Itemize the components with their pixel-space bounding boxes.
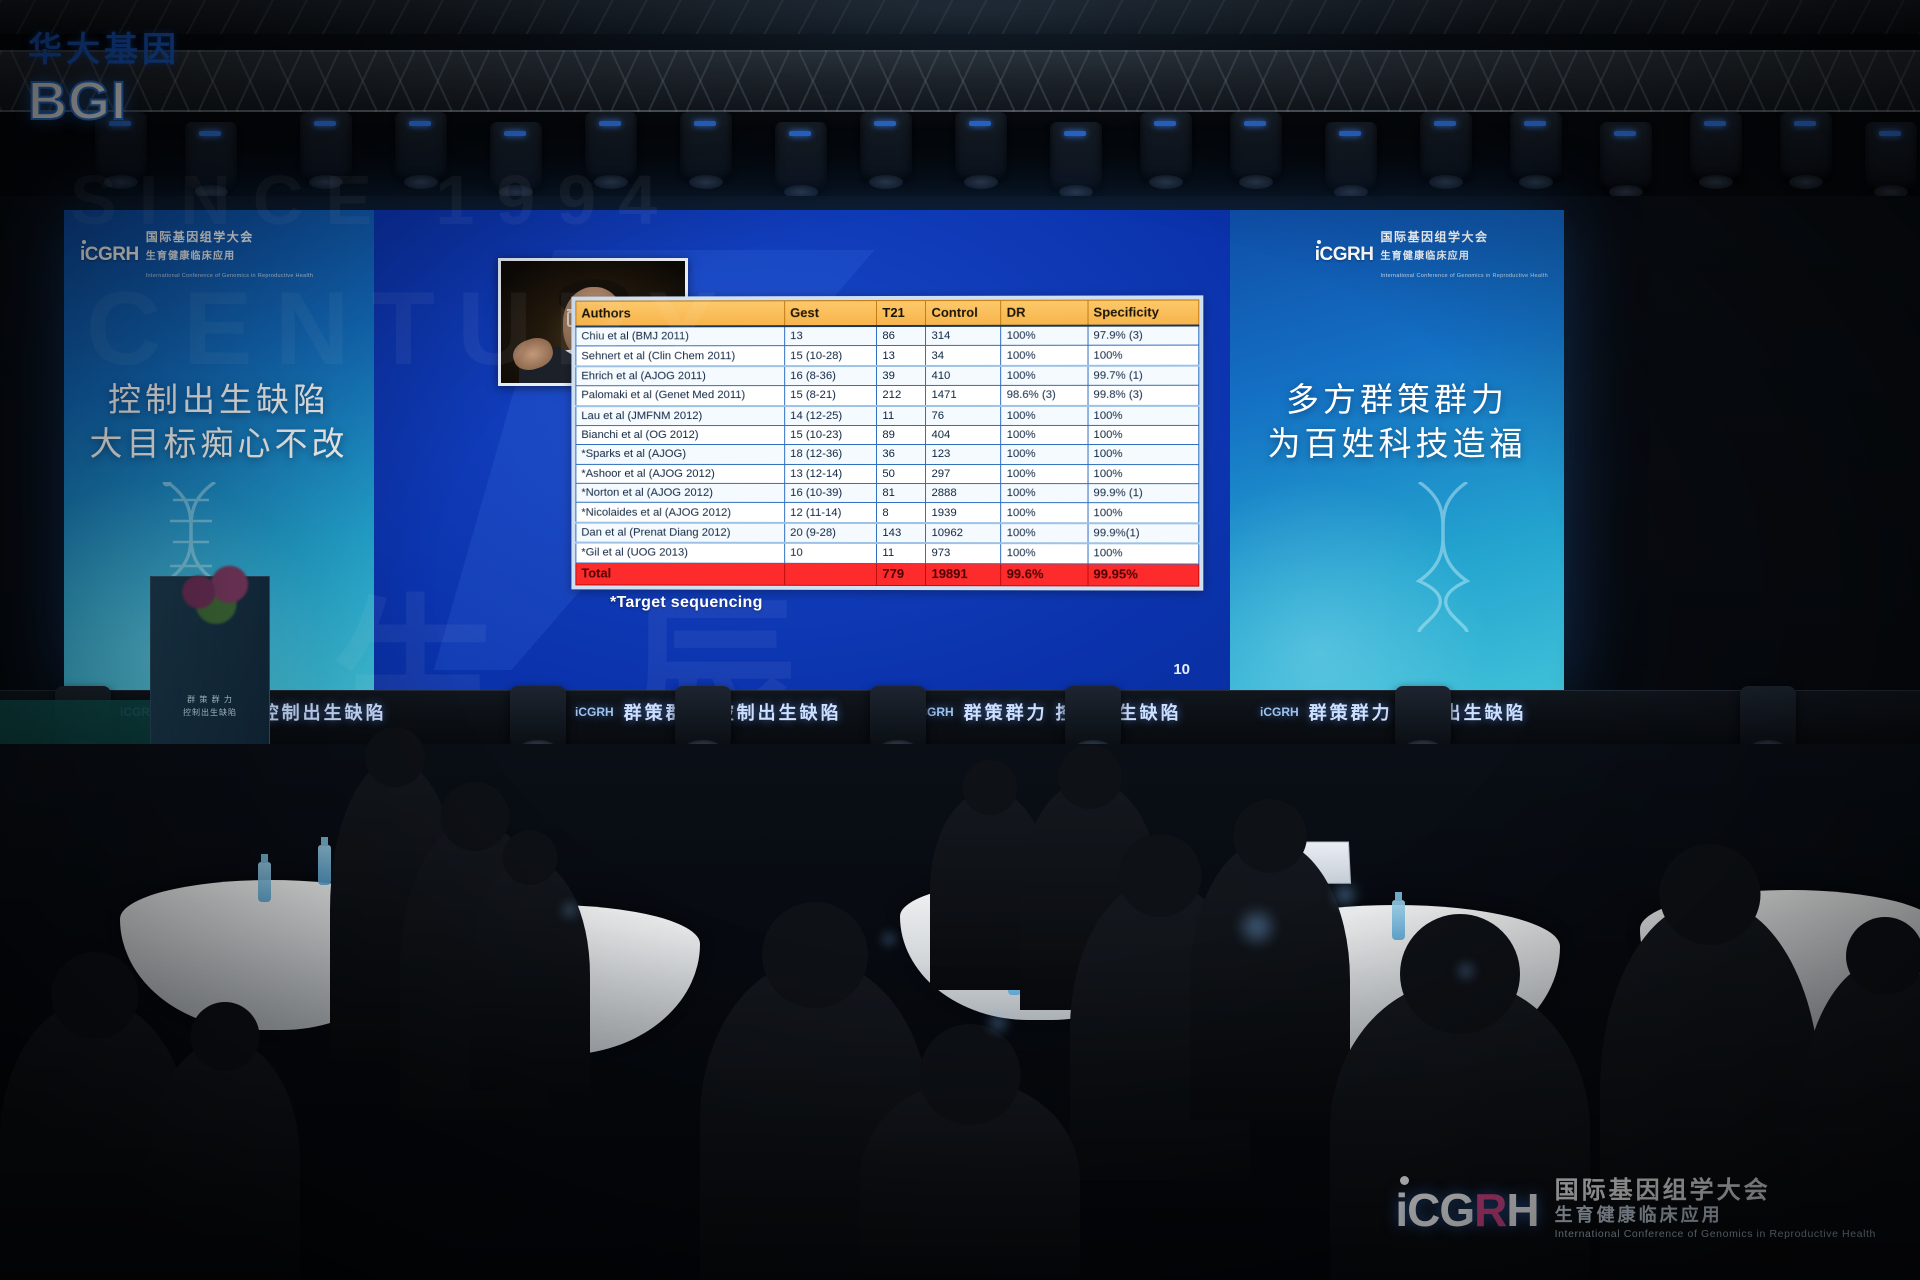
stage-lamp	[1050, 122, 1102, 192]
cell-t21: 36	[877, 445, 926, 464]
stage-lamp	[1325, 122, 1377, 192]
cell-gest: 15 (10-28)	[785, 346, 877, 366]
stage-lamp	[680, 112, 732, 182]
cell-specificity: 99.9%(1)	[1088, 523, 1199, 544]
audience-head	[503, 830, 558, 885]
table-row: Chiu et al (BMJ 2011)1386314100%97.9% (3…	[576, 325, 1199, 346]
logo-cn-line1: 国际基因组学大会	[146, 230, 254, 244]
podium-text-line2: 控制出生缺陷	[183, 708, 237, 717]
slide-footnote: *Target sequencing	[610, 594, 763, 612]
cell-gest: 13 (12-14)	[785, 464, 877, 483]
logo-en-line: International Conference of Genomics in …	[146, 273, 314, 279]
cell-specificity: 100%	[1088, 405, 1199, 425]
table-row: Lau et al (JMFNM 2012)14 (12-25)1176100%…	[576, 405, 1199, 425]
audience-member	[1190, 840, 1350, 1120]
led-video-wall: iCGRH 国际基因组学大会 生育健康临床应用 International Co…	[64, 210, 1564, 692]
table-row: *Ashoor et al (AJOG 2012)13 (12-14)50297…	[576, 464, 1199, 484]
cell-gest: 16 (10-39)	[785, 483, 877, 502]
table-row: *Nicolaides et al (AJOG 2012)12 (11-14)8…	[576, 503, 1199, 523]
cell-specificity: 100%	[1088, 345, 1199, 365]
cell-authors: *Norton et al (AJOG 2012)	[576, 483, 785, 502]
total-cell-dr: 99.6%	[1001, 563, 1088, 585]
cell-control: 34	[926, 346, 1001, 366]
icgrh-corner-text: 国际基因组学大会 生育健康临床应用 International Conferen…	[1555, 1177, 1876, 1242]
cell-control: 297	[926, 464, 1001, 483]
water-bottle	[318, 845, 331, 885]
cell-gest: 15 (10-23)	[785, 425, 877, 444]
moving-head-light	[675, 686, 731, 748]
led-right-panel: iCGRH 国际基因组学大会 生育健康临床应用 International Co…	[1230, 210, 1564, 692]
total-cell-control: 19891	[926, 563, 1001, 585]
bokeh-light	[880, 930, 898, 948]
cell-control: 314	[926, 326, 1001, 346]
cell-specificity: 97.9% (3)	[1088, 325, 1199, 345]
audience-head	[1233, 799, 1307, 873]
moving-head-light	[1395, 686, 1451, 748]
cell-authors: *Gil et al (UOG 2013)	[576, 543, 785, 563]
audience-head	[963, 760, 1018, 815]
right-title-line1: 多方群策群力	[1286, 381, 1508, 418]
cell-t21: 143	[877, 523, 926, 543]
moving-head-light	[1065, 686, 1121, 748]
conference-hall-photo: iCGRH 国际基因组学大会 生育健康临床应用 International Co…	[0, 0, 1920, 1280]
stage-front-led-strip: iCGRH群策群力 控制出生缺陷iCGRH群策群力 控制出生缺陷iCGRH群策群…	[0, 690, 1920, 746]
cell-gest: 13	[785, 326, 877, 346]
stage-lamp	[860, 112, 912, 182]
cell-dr: 100%	[1001, 464, 1088, 483]
table-row: *Gil et al (UOG 2013)1011973100%100%	[576, 543, 1199, 564]
moving-head-light	[870, 686, 926, 748]
icgrh-mark-icon-right: iCGRH	[1315, 244, 1374, 266]
cell-specificity: 100%	[1088, 425, 1199, 444]
left-panel-logo: iCGRH 国际基因组学大会 生育健康临床应用 International Co…	[80, 228, 313, 282]
col-header-t21: T21	[877, 300, 926, 326]
cell-authors: Palomaki et al (Genet Med 2011)	[576, 386, 785, 406]
strip-logo-icon: iCGRH	[1260, 705, 1299, 719]
audience-member	[860, 1080, 1080, 1280]
cell-gest: 15 (8-21)	[785, 386, 877, 406]
cell-dr: 100%	[1001, 405, 1088, 425]
total-cell-specificity: 99.95%	[1088, 563, 1199, 585]
table-row: Bianchi et al (OG 2012)15 (10-23)8940410…	[576, 425, 1199, 444]
cell-t21: 13	[877, 346, 926, 366]
total-cell-t21: 779	[877, 563, 926, 585]
cell-control: 1939	[926, 503, 1001, 523]
cell-authors: Bianchi et al (OG 2012)	[576, 425, 785, 444]
stage-lamp	[1420, 112, 1472, 182]
cell-t21: 89	[877, 425, 926, 444]
bokeh-light	[985, 1010, 1011, 1036]
cell-dr: 100%	[1001, 543, 1088, 563]
audience-head	[1660, 844, 1761, 945]
col-header-authors: Authors	[576, 301, 785, 327]
logo-cn-line2-right: 生育健康临床应用	[1380, 251, 1470, 262]
cell-specificity: 99.7% (1)	[1088, 365, 1199, 385]
cell-control: 973	[926, 543, 1001, 563]
nipt-studies-table: Authors Gest T21 Control DR Specificity …	[575, 299, 1199, 586]
table-row: Palomaki et al (Genet Med 2011)15 (8-21)…	[576, 385, 1199, 405]
lighting-truss	[0, 50, 1920, 112]
left-panel-title: 控制出生缺陷 大目标痴心不改	[64, 378, 374, 466]
logo-cn-line1-right: 国际基因组学大会	[1380, 230, 1488, 244]
audience-head	[920, 1024, 1021, 1125]
table-row: Sehnert et al (Clin Chem 2011)15 (10-28)…	[576, 345, 1199, 366]
stage-strip-item: iCGRH群策群力 控制出生缺陷	[915, 699, 1182, 725]
presentation-slide: Authors Gest T21 Control DR Specificity …	[374, 210, 1230, 692]
table-body: Chiu et al (BMJ 2011)1386314100%97.9% (3…	[576, 325, 1199, 585]
moving-head-light	[1740, 686, 1796, 748]
stage-lamp	[1140, 112, 1192, 182]
cell-t21: 11	[877, 543, 926, 563]
table-head: Authors Gest T21 Control DR Specificity	[576, 300, 1199, 327]
audience-head	[191, 1002, 260, 1071]
bgi-logo: 华大基因 BGI	[28, 22, 258, 129]
moving-head-light	[510, 686, 566, 748]
col-header-dr: DR	[1001, 300, 1088, 326]
right-panel-logo-text: 国际基因组学大会 生育健康临床应用 International Conferen…	[1380, 228, 1548, 282]
stage-lamp	[955, 112, 1007, 182]
podium-plate: 群 策 群 力 控制出生缺陷	[161, 689, 259, 729]
cell-dr: 100%	[1001, 445, 1088, 464]
table-row: Dan et al (Prenat Diang 2012)20 (9-28)14…	[576, 522, 1199, 543]
right-title-line2: 为百姓科技造福	[1268, 425, 1527, 462]
audience-member	[150, 1040, 300, 1280]
slide-page-number: 10	[1173, 661, 1190, 678]
stage-lamp	[395, 112, 447, 182]
flower-arrangement	[170, 560, 266, 624]
stage-lamp	[490, 122, 542, 192]
cell-t21: 11	[877, 405, 926, 425]
cell-authors: Ehrich et al (AJOG 2011)	[576, 366, 785, 386]
cell-dr: 100%	[1001, 346, 1088, 366]
cell-control: 1471	[926, 386, 1001, 406]
strip-text: 群策群力 控制出生缺陷	[624, 699, 842, 725]
strip-logo-icon: iCGRH	[575, 705, 614, 719]
cell-control: 76	[926, 405, 1001, 425]
table-total-row: Total7791989199.6%99.95%	[576, 562, 1199, 585]
stage-lamp	[1780, 112, 1832, 182]
cell-dr: 98.6% (3)	[1001, 385, 1088, 405]
water-bottle	[258, 862, 271, 902]
bokeh-light	[1330, 880, 1360, 910]
audience-head	[1846, 917, 1920, 995]
cell-gest: 12 (11-14)	[785, 503, 877, 523]
bokeh-light	[1235, 905, 1279, 949]
cell-gest: 18 (12-36)	[785, 445, 877, 464]
logo-cn-line2: 生育健康临床应用	[146, 251, 236, 262]
bokeh-light	[560, 900, 580, 920]
left-panel-logo-text: 国际基因组学大会 生育健康临床应用 International Conferen…	[146, 228, 314, 282]
cell-dr: 100%	[1001, 484, 1088, 503]
bgi-logo-cn: 华大基因	[28, 22, 258, 71]
stage-lamp	[585, 112, 637, 182]
cell-dr: 100%	[1001, 523, 1088, 544]
water-bottle	[1392, 900, 1405, 940]
stage-lamp	[1865, 122, 1917, 192]
cell-dr: 100%	[1001, 326, 1088, 346]
stage-lamp	[1510, 112, 1562, 182]
stage-lamp	[1230, 112, 1282, 182]
icgrh-corner-logo: iCGRH 国际基因组学大会 生育健康临床应用 International Co…	[1395, 1177, 1876, 1242]
cell-dr: 100%	[1001, 366, 1088, 386]
corner-en-line: International Conference of Genomics in …	[1555, 1226, 1876, 1242]
cell-authors: *Nicolaides et al (AJOG 2012)	[576, 503, 785, 523]
cell-dr: 100%	[1001, 503, 1088, 523]
table-row: *Sparks et al (AJOG)18 (12-36)36123100%1…	[576, 445, 1199, 464]
col-header-gest: Gest	[785, 301, 877, 327]
podium-text-line1: 群 策 群 力	[187, 695, 233, 704]
cell-authors: Sehnert et al (Clin Chem 2011)	[576, 346, 785, 366]
cell-authors: *Sparks et al (AJOG)	[576, 445, 785, 464]
dna-helix-icon-right	[1388, 482, 1498, 632]
cell-gest: 14 (12-25)	[785, 406, 877, 426]
cell-control: 2888	[926, 484, 1001, 503]
cell-specificity: 100%	[1088, 464, 1199, 483]
cell-gest: 20 (9-28)	[785, 523, 877, 543]
stage-lamp	[1600, 122, 1652, 192]
cell-specificity: 100%	[1088, 543, 1199, 563]
cell-t21: 212	[877, 386, 926, 406]
audience-head	[1058, 745, 1122, 809]
total-cell-gest	[785, 563, 877, 585]
stage-strip-item: iCGRH群策群力 控制出生缺陷	[1260, 699, 1527, 725]
slide-data-table-container: Authors Gest T21 Control DR Specificity …	[571, 295, 1203, 590]
corner-cn-line1: 国际基因组学大会	[1555, 1177, 1876, 1204]
cell-t21: 50	[877, 464, 926, 483]
col-header-control: Control	[926, 300, 1001, 326]
audience-head	[365, 727, 425, 787]
cell-control: 10962	[926, 523, 1001, 543]
right-panel-title: 多方群策群力 为百姓科技造福	[1230, 378, 1564, 466]
cell-specificity: 99.9% (1)	[1088, 484, 1199, 504]
audience-head	[52, 952, 139, 1039]
cell-t21: 39	[877, 366, 926, 386]
cell-control: 123	[926, 445, 1001, 464]
table-header-row: Authors Gest T21 Control DR Specificity	[576, 300, 1199, 327]
left-title-line2: 大目标痴心不改	[90, 425, 349, 462]
stage-lamp	[185, 122, 237, 192]
bokeh-light	[1455, 960, 1477, 982]
cell-control: 410	[926, 366, 1001, 386]
stage-lamp	[775, 122, 827, 192]
cell-authors: Lau et al (JMFNM 2012)	[576, 406, 785, 426]
right-panel-logo: iCGRH 国际基因组学大会 生育健康临床应用 International Co…	[1315, 228, 1548, 282]
total-cell-authors: Total	[576, 562, 785, 584]
audience-head	[441, 782, 510, 851]
icgrh-mark-icon: iCGRH	[80, 244, 139, 266]
stage-lamp	[1690, 112, 1742, 182]
table-row: *Norton et al (AJOG 2012)16 (10-39)81288…	[576, 483, 1199, 503]
audience-head	[1119, 834, 1202, 917]
logo-en-line-right: International Conference of Genomics in …	[1380, 273, 1548, 279]
cell-specificity: 100%	[1088, 503, 1199, 523]
upper-truss	[0, 0, 1920, 34]
cell-gest: 16 (8-36)	[785, 366, 877, 386]
col-header-specificity: Specificity	[1088, 300, 1199, 326]
cell-t21: 8	[877, 503, 926, 523]
cell-t21: 81	[877, 483, 926, 502]
cell-authors: Dan et al (Prenat Diang 2012)	[576, 522, 785, 543]
stage-lamp	[300, 112, 352, 182]
cell-control: 404	[926, 425, 1001, 444]
left-title-line1: 控制出生缺陷	[108, 381, 330, 418]
cell-gest: 10	[785, 543, 877, 563]
cell-authors: Chiu et al (BMJ 2011)	[576, 326, 785, 346]
icgrh-corner-mark-icon: iCGRH	[1395, 1183, 1538, 1237]
bgi-logo-en: BGI	[28, 73, 258, 129]
cell-dr: 100%	[1001, 425, 1088, 444]
cell-authors: *Ashoor et al (AJOG 2012)	[576, 464, 785, 483]
audience-head	[762, 902, 868, 1008]
audience-member	[470, 860, 590, 1090]
cell-specificity: 99.8% (3)	[1088, 385, 1199, 405]
cell-specificity: 100%	[1088, 445, 1199, 464]
corner-cn-line2: 生育健康临床应用	[1555, 1204, 1876, 1226]
cell-t21: 86	[877, 326, 926, 346]
table-row: Ehrich et al (AJOG 2011)16 (8-36)3941010…	[576, 365, 1199, 385]
